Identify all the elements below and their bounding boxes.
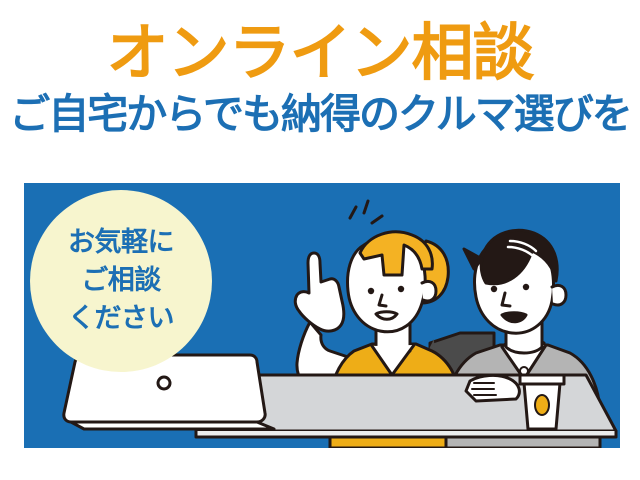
speech-bubble: お気軽に ご相談 ください <box>30 190 212 372</box>
illustration-panel: お気軽に ご相談 ください <box>24 183 620 448</box>
headline-block: オンライン相談 ご自宅からでも納得のクルマ選びを <box>0 18 640 138</box>
bubble-line-1: お気軽に <box>68 224 174 262</box>
poster-root: オンライン相談 ご自宅からでも納得のクルマ選びを <box>0 0 640 480</box>
page-subtitle: ご自宅からでも納得のクルマ選びを <box>0 90 640 138</box>
page-title: オンライン相談 <box>0 18 640 88</box>
bubble-line-3: ください <box>68 300 174 338</box>
bubble-line-2: ご相談 <box>81 262 161 300</box>
